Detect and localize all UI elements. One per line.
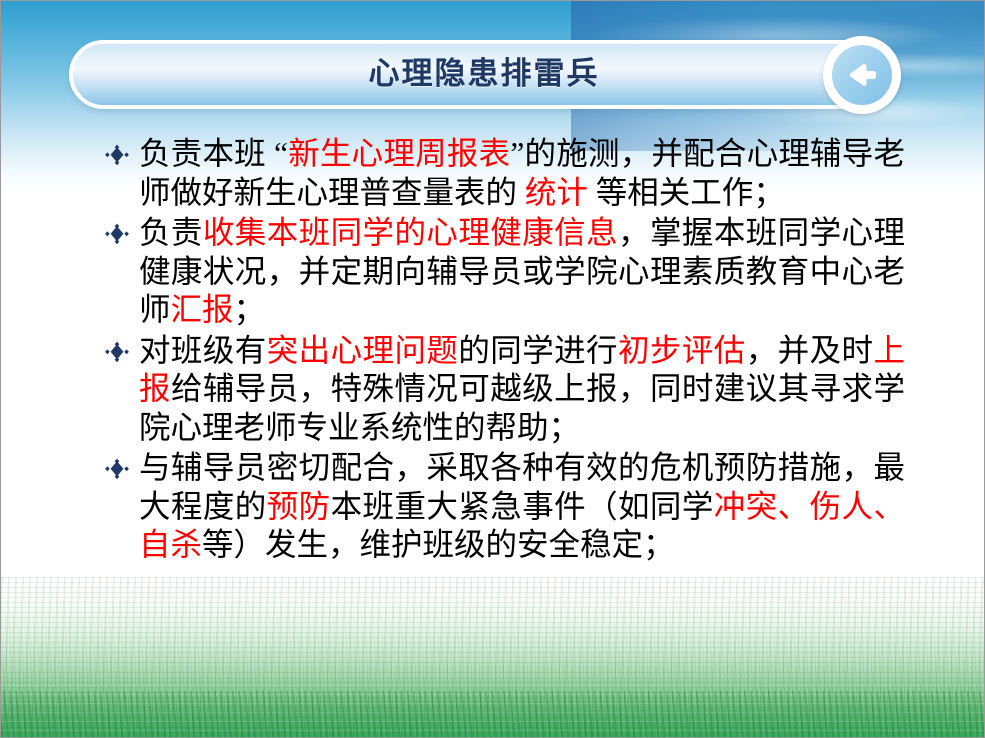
plain-text: ； [234, 292, 266, 327]
page-title: 心理隐患排雷兵 [369, 59, 600, 90]
four-diamond-bullet-icon [105, 449, 139, 480]
highlight-text: 预防 [267, 489, 331, 524]
plain-text: 负责本班 “ [139, 136, 288, 171]
bullet-list: 负责本班 “新生心理周报表”的施测，并配合心理辅导老师做好新生心理普查量表的 统… [105, 135, 905, 567]
grass-foreground-shadow [1, 691, 984, 737]
highlight-text: 初步评估 [618, 333, 746, 368]
plain-text: 等）发生，维护班级的安全稳定； [202, 527, 675, 562]
plain-text: 给辅导员，特殊情况可越级上报，同时建议其寻求学院心理老师专业系统性的帮助； [139, 371, 905, 445]
plain-text: 本班重大紧急事件（如同学 [331, 489, 714, 524]
list-item-text: 负责收集本班同学的心理健康信息，掌握本班同学心理健康状况，并定期向辅导员或学院心… [139, 214, 905, 330]
highlight-text: 新生心理周报表 [288, 136, 510, 171]
highlight-text: 统计 [525, 175, 588, 210]
plain-text: 等相关工作； [588, 175, 785, 210]
plain-text: ，并及时 [746, 333, 874, 368]
list-item: 负责本班 “新生心理周报表”的施测，并配合心理辅导老师做好新生心理普查量表的 统… [105, 135, 905, 212]
list-item: 与辅导员密切配合，采取各种有效的危机预防措施，最大程度的预防本班重大紧急事件（如… [105, 449, 905, 565]
list-item-text: 负责本班 “新生心理周报表”的施测，并配合心理辅导老师做好新生心理普查量表的 统… [139, 135, 905, 212]
highlight-text: 突出心理问题 [267, 333, 459, 368]
four-diamond-bullet-icon [105, 135, 139, 166]
slide-canvas: 心理隐患排雷兵 负责本班 “新生心理周报表”的施测，并配合心理辅导老 [0, 0, 985, 738]
arrow-left-circle-icon [842, 55, 882, 95]
four-diamond-bullet-icon [105, 214, 139, 245]
list-item: 负责收集本班同学的心理健康信息，掌握本班同学心理健康状况，并定期向辅导员或学院心… [105, 214, 905, 330]
plain-text: 的同学进行 [458, 333, 618, 368]
list-item: 对班级有突出心理问题的同学进行初步评估，并及时上报给辅导员，特殊情况可越级上报，… [105, 332, 905, 448]
list-item-text: 对班级有突出心理问题的同学进行初步评估，并及时上报给辅导员，特殊情况可越级上报，… [139, 332, 905, 448]
title-bar: 心理隐患排雷兵 [69, 40, 899, 109]
back-button-face [832, 45, 892, 105]
highlight-text: 汇报 [171, 292, 234, 327]
list-item-text: 与辅导员密切配合，采取各种有效的危机预防措施，最大程度的预防本班重大紧急事件（如… [139, 449, 905, 565]
plain-text: 负责 [139, 215, 203, 250]
plain-text: 对班级有 [139, 333, 267, 368]
back-button[interactable] [823, 36, 901, 114]
four-diamond-bullet-icon [105, 332, 139, 363]
highlight-text: 收集本班同学的心理健康信息 [203, 215, 618, 250]
